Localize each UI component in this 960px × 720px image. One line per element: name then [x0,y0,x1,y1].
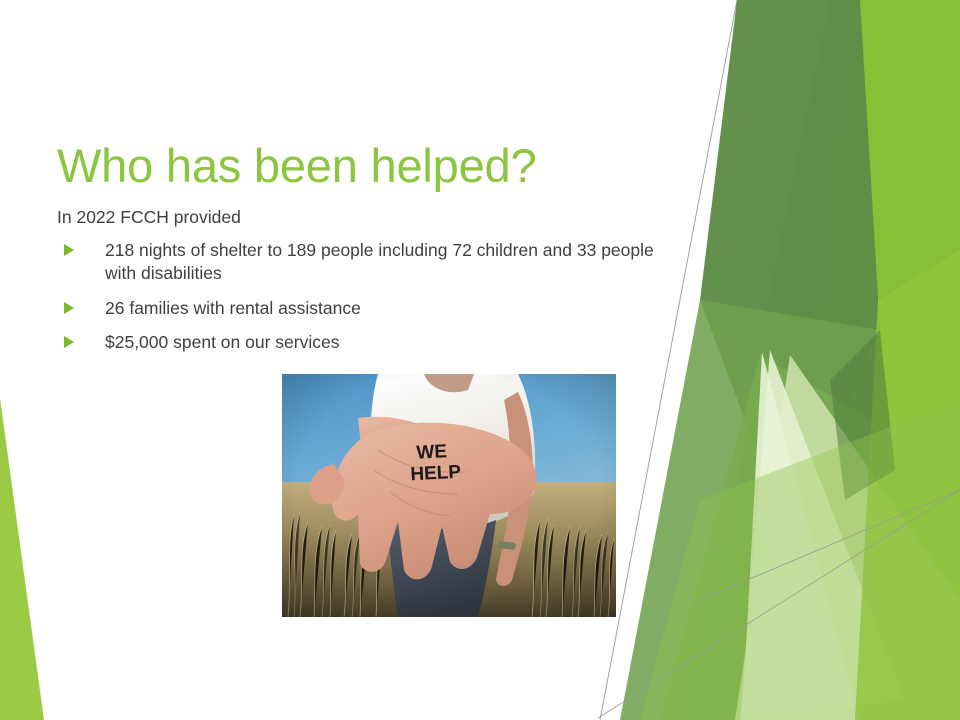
facet-shape-pale-sliver [742,352,860,720]
lead-line: In 2022 FCCH provided [57,206,662,229]
facet-shape-very-pale [740,350,905,720]
hairline-diagonal-shallow-2 [598,490,960,718]
facet-shape-bright-body [700,0,960,720]
hairline-diagonal-shallow [700,490,960,600]
facet-shape-mid-green [620,300,880,720]
list-item: $25,000 spent on our services [57,331,662,354]
left-green-wedge [0,398,44,720]
facet-shape-mid-green-2 [660,355,905,720]
triangle-bullet-icon [64,244,77,257]
facet-shape-dark-olive [700,0,880,540]
slide-photo: WE HELP [282,374,616,617]
facet-shape-right-bright-2 [790,0,960,720]
list-item-label: 218 nights of shelter to 189 people incl… [105,239,662,285]
we-help-hand-photo: WE HELP [282,374,616,617]
facet-shape-overlay [640,400,960,720]
list-item: 218 nights of shelter to 189 people incl… [57,239,662,285]
photo-vignette [282,374,616,617]
facet-shape-dark-accent [830,330,895,500]
triangle-bullet-icon [64,336,77,349]
slide-title: Who has been helped? [57,141,677,192]
slide-body: In 2022 FCCH provided 218 nights of shel… [57,206,662,354]
list-item-label: $25,000 spent on our services [105,331,662,354]
hairline-diagonal-main [600,0,737,720]
facet-shape-right-bright [852,0,960,720]
facet-shape-pale-large [735,355,960,720]
facet-shape-bright-spike [855,250,960,720]
bullet-list: 218 nights of shelter to 189 people incl… [57,239,662,354]
list-item-label: 26 families with rental assistance [105,297,662,320]
list-item: 26 families with rental assistance [57,297,662,320]
triangle-bullet-icon [64,302,77,315]
presentation-slide: Who has been helped? In 2022 FCCH provid… [0,0,960,720]
